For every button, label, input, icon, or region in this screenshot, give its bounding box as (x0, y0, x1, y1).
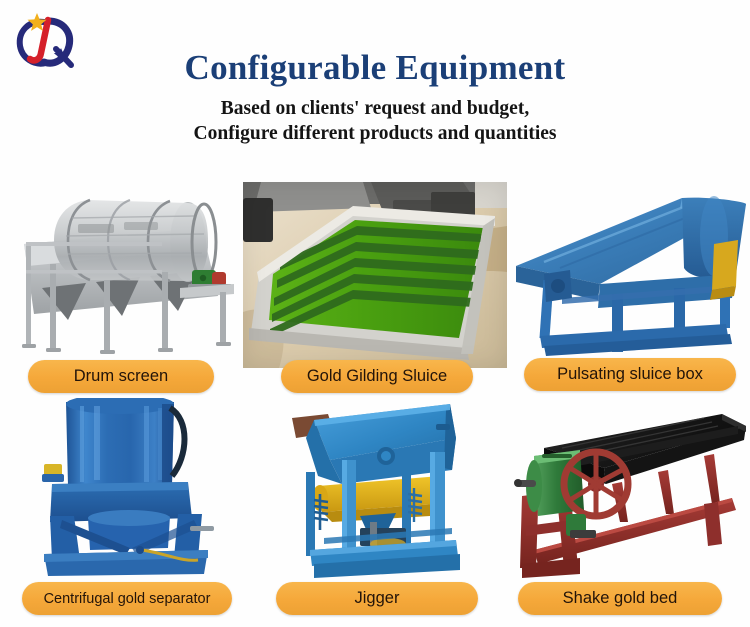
poster-root: Configurable Equipment Based on clients'… (0, 0, 750, 627)
subtitle-line-1: Based on clients' request and budget, (0, 97, 750, 122)
page-subtitle: Based on clients' request and budget, Co… (0, 97, 750, 147)
product-image-gold-gilding-sluice (243, 182, 507, 368)
product-label-centrifugal-gold-separator[interactable]: Centrifugal gold separator (22, 582, 232, 615)
product-label-pulsating-sluice-box[interactable]: Pulsating sluice box (524, 358, 736, 391)
product-image-centrifugal-gold-separator (22, 398, 238, 578)
product-card-jigger[interactable] (284, 398, 498, 578)
product-image-jigger (284, 398, 498, 578)
product-image-drum-screen (12, 184, 240, 360)
product-grid: Drum screen Gold Gilding Sluice Pulsatin… (0, 180, 750, 627)
page-title: Configurable Equipment (0, 48, 750, 88)
product-card-shake-gold-bed[interactable] (508, 398, 748, 578)
product-image-shake-gold-bed (508, 398, 748, 578)
product-card-centrifugal-gold-separator[interactable] (22, 398, 238, 578)
product-card-gold-gilding-sluice[interactable] (243, 182, 507, 368)
header: Configurable Equipment Based on clients'… (0, 48, 750, 147)
product-label-shake-gold-bed[interactable]: Shake gold bed (518, 582, 722, 615)
product-label-drum-screen[interactable]: Drum screen (28, 360, 214, 393)
product-image-pulsating-sluice-box (514, 188, 750, 360)
product-card-pulsating-sluice-box[interactable] (514, 188, 750, 360)
product-label-jigger[interactable]: Jigger (276, 582, 478, 615)
product-card-drum-screen[interactable] (12, 184, 240, 360)
subtitle-line-2: Configure different products and quantit… (0, 122, 750, 147)
product-label-gold-gilding-sluice[interactable]: Gold Gilding Sluice (281, 360, 473, 393)
